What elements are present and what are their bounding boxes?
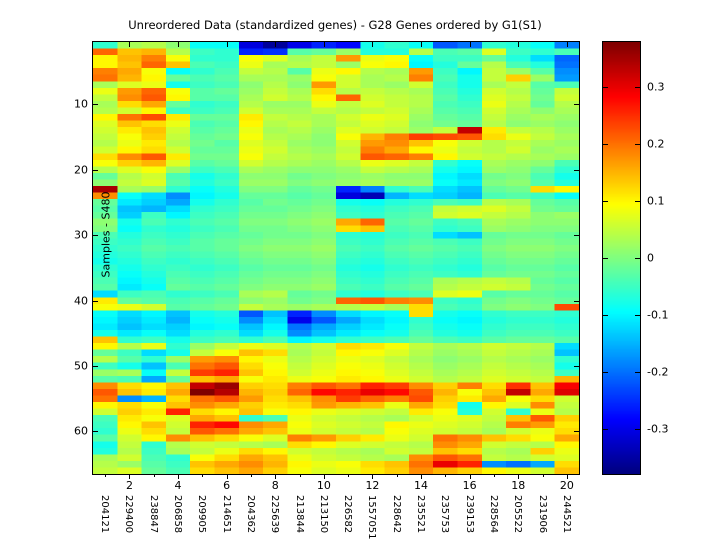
x-gene-label: 229400 <box>123 495 133 533</box>
x-gene-tick-mark <box>227 474 228 477</box>
y-tick-mark <box>93 301 98 302</box>
colorbar-tick-mark <box>635 87 640 88</box>
x-gene-tick-mark <box>202 474 203 477</box>
x-tick-label: 6 <box>223 480 230 491</box>
x-gene-tick-mark <box>178 474 179 477</box>
x-tick-mark <box>178 42 179 47</box>
y-tick-label: 10 <box>74 99 88 110</box>
x-tick-label: 14 <box>414 480 428 491</box>
colorbar-tick-mark <box>603 87 608 88</box>
x-gene-tick-mark <box>129 474 130 477</box>
colorbar-tick-label: -0.1 <box>647 309 668 320</box>
x-gene-label: 239153 <box>464 495 474 533</box>
x-gene-tick-mark <box>154 474 155 477</box>
colorbar-tick-label: 0.1 <box>647 196 665 207</box>
x-gene-tick-mark <box>324 474 325 477</box>
y-tick-mark <box>93 431 98 432</box>
x-gene-tick-mark <box>372 474 373 477</box>
colorbar-tick-label: -0.3 <box>647 423 668 434</box>
x-tick-label: 16 <box>463 480 477 491</box>
colorbar-tick-mark <box>635 258 640 259</box>
x-tick-mark <box>567 42 568 47</box>
x-gene-label: 209905 <box>196 495 206 533</box>
x-tick-mark <box>129 42 130 47</box>
x-gene-label: 204362 <box>245 495 255 533</box>
y-tick-mark <box>574 366 579 367</box>
y-tick-label: 50 <box>74 361 88 372</box>
x-tick-label: 20 <box>560 480 574 491</box>
x-gene-label: 213150 <box>318 495 328 533</box>
heatmap-axes[interactable]: Samples - S480 102030405060 246810121416… <box>92 41 580 475</box>
x-gene-label: 244521 <box>561 495 571 533</box>
x-tick-mark <box>372 42 373 47</box>
colorbar-tick-mark <box>635 144 640 145</box>
colorbar-tick-label: 0.3 <box>647 82 665 93</box>
x-gene-label: 235753 <box>439 495 449 533</box>
x-gene-tick-mark <box>445 474 446 477</box>
colorbar-tick-label: 0.2 <box>647 139 665 150</box>
colorbar-tick-label: -0.2 <box>647 366 668 377</box>
x-gene-label: 238847 <box>148 495 158 533</box>
y-axis-label: Samples - S480 <box>100 175 113 295</box>
x-tick-mark <box>275 42 276 47</box>
x-gene-label: 228564 <box>488 495 498 533</box>
y-tick-mark <box>574 104 579 105</box>
x-tick-label: 10 <box>317 480 331 491</box>
colorbar-tick-mark <box>635 429 640 430</box>
y-tick-mark <box>93 104 98 105</box>
colorbar-tick-mark <box>603 258 608 259</box>
x-tick-mark <box>324 42 325 47</box>
colorbar-tick-mark <box>603 144 608 145</box>
x-gene-tick-mark <box>421 474 422 477</box>
x-tick-label: 18 <box>511 480 525 491</box>
x-gene-label: 213844 <box>294 495 304 533</box>
x-gene-label: 228642 <box>391 495 401 533</box>
colorbar-tick-mark <box>603 429 608 430</box>
x-gene-tick-mark <box>494 474 495 477</box>
y-tick-mark <box>574 301 579 302</box>
chart-title: Unreordered Data (standardized genes) - … <box>0 18 670 32</box>
x-tick-mark <box>421 42 422 47</box>
x-gene-label: 214651 <box>221 495 231 533</box>
x-gene-tick-mark <box>300 474 301 477</box>
y-tick-mark <box>93 366 98 367</box>
colorbar[interactable]: 0.30.20.10-0.1-0.2-0.3 <box>602 41 641 475</box>
x-gene-tick-mark <box>518 474 519 477</box>
x-gene-label: 226582 <box>342 495 352 533</box>
colorbar-tick-mark <box>603 372 608 373</box>
colorbar-tick-mark <box>635 315 640 316</box>
y-tick-mark <box>93 235 98 236</box>
y-tick-mark <box>574 235 579 236</box>
x-gene-label: 205522 <box>512 495 522 533</box>
x-gene-tick-mark <box>543 474 544 477</box>
x-tick-label: 8 <box>272 480 279 491</box>
x-tick-mark <box>518 42 519 47</box>
x-gene-tick-mark <box>348 474 349 477</box>
x-gene-label: 1557051 <box>366 495 376 540</box>
colorbar-tick-mark <box>603 315 608 316</box>
figure-canvas: Unreordered Data (standardized genes) - … <box>0 0 720 540</box>
x-gene-tick-mark <box>397 474 398 477</box>
colorbar-tick-mark <box>603 201 608 202</box>
x-gene-label: 235521 <box>415 495 425 533</box>
y-tick-label: 20 <box>74 164 88 175</box>
y-tick-label: 40 <box>74 295 88 306</box>
x-tick-label: 12 <box>365 480 379 491</box>
x-gene-tick-mark <box>251 474 252 477</box>
x-gene-label: 206858 <box>172 495 182 533</box>
colorbar-tick-mark <box>635 201 640 202</box>
x-gene-label: 204121 <box>99 495 109 533</box>
heatmap-image[interactable] <box>93 42 579 474</box>
x-tick-label: 4 <box>175 480 182 491</box>
y-tick-mark <box>93 170 98 171</box>
x-gene-tick-mark <box>567 474 568 477</box>
y-tick-label: 60 <box>74 426 88 437</box>
colorbar-tick-mark <box>635 372 640 373</box>
x-tick-mark <box>227 42 228 47</box>
colorbar-tick-label: 0 <box>647 253 654 264</box>
x-gene-tick-mark <box>470 474 471 477</box>
x-gene-label: 231906 <box>537 495 547 533</box>
x-gene-tick-mark <box>105 474 106 477</box>
x-gene-label: 225639 <box>269 495 279 533</box>
y-tick-mark <box>574 170 579 171</box>
y-tick-label: 30 <box>74 230 88 241</box>
x-tick-mark <box>470 42 471 47</box>
x-tick-label: 2 <box>126 480 133 491</box>
y-tick-mark <box>574 431 579 432</box>
x-gene-tick-mark <box>275 474 276 477</box>
